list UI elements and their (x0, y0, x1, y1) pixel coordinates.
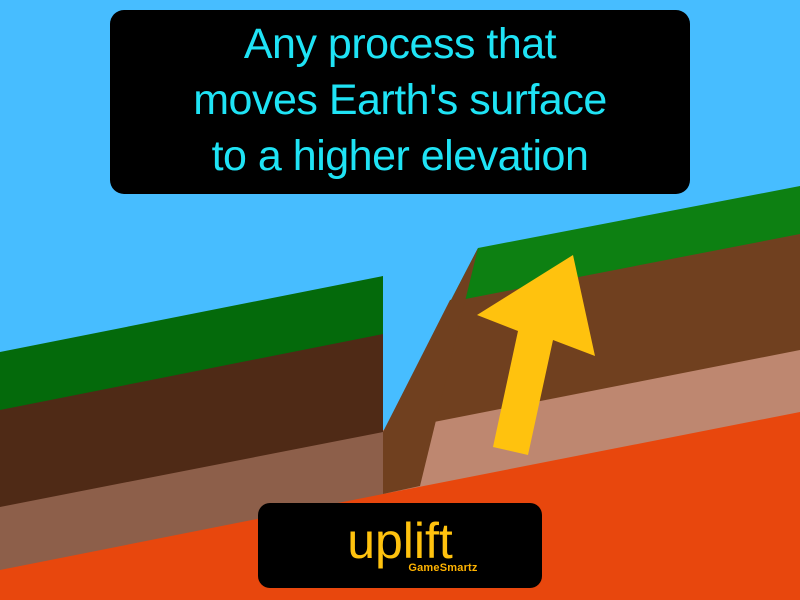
definition-line-1: Any process that (244, 16, 556, 72)
watermark-label: GameSmartz (408, 562, 477, 574)
definition-line-2: moves Earth's surface (193, 72, 607, 128)
definition-callout: Any process that moves Earth's surface t… (110, 10, 690, 194)
flashcard-image: Any process that moves Earth's surface t… (0, 0, 800, 600)
term-label: uplift (347, 514, 453, 568)
term-callout: uplift GameSmartz (258, 503, 542, 588)
definition-line-3: to a higher elevation (212, 128, 589, 184)
